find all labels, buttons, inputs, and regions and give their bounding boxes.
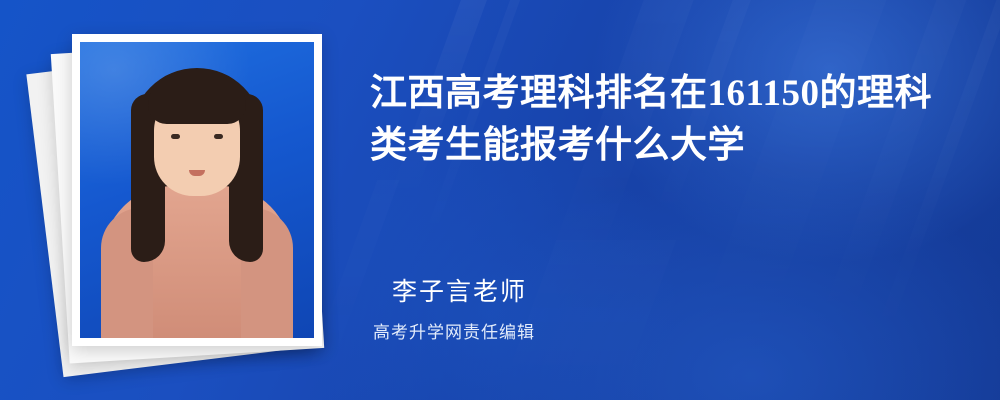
portrait-photo — [80, 42, 314, 338]
photo-card-front — [72, 34, 322, 346]
hair-fringe — [148, 72, 246, 124]
eye-right — [214, 134, 223, 139]
photo-card-stack — [44, 30, 354, 370]
portrait-figure — [80, 42, 314, 338]
banner-text-column: 江西高考理科排名在161150的理科类考生能报考什么大学 李子言老师 高考升学网… — [370, 0, 1000, 400]
author-name: 李子言老师 — [392, 272, 527, 308]
eye-left — [171, 134, 180, 139]
author-role: 高考升学网责任编辑 — [373, 318, 535, 343]
article-banner: 江西高考理科排名在161150的理科类考生能报考什么大学 李子言老师 高考升学网… — [0, 0, 1000, 400]
banner-headline: 江西高考理科排名在161150的理科类考生能报考什么大学 — [370, 68, 960, 172]
